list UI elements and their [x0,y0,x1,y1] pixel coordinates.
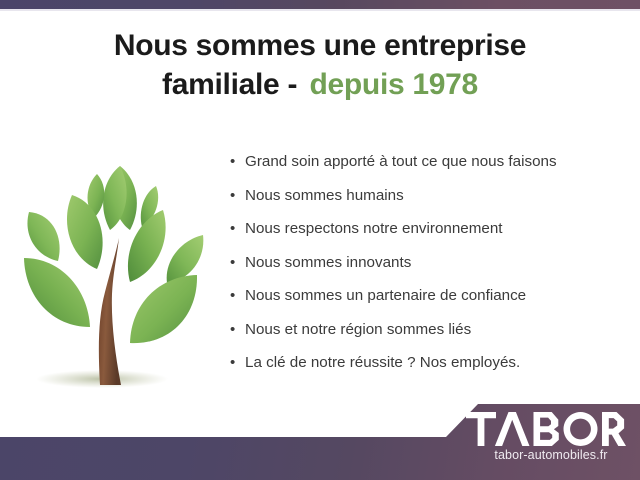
page-title-line-2: familiale - depuis 1978 [0,65,640,104]
list-item-label: Nous sommes un partenaire de confiance [245,285,526,307]
bullet-marker-icon: • [230,151,245,173]
top-accent-bar [0,0,640,9]
list-item: • Nous et notre région sommes liés [230,319,630,353]
list-item-label: La clé de notre réussite ? Nos employés. [245,352,520,374]
bullet-marker-icon: • [230,252,245,274]
page-title: Nous sommes une entreprise familiale - d… [0,26,640,104]
list-item: • Nous sommes humains [230,185,630,219]
tree-leaf [130,275,197,343]
values-bullet-list: • Grand soin apporté à tout ce que nous … [230,151,630,386]
tree-leaf [24,258,90,327]
page-title-line-2-plain: familiale - [162,68,297,101]
bullet-marker-icon: • [230,285,245,307]
list-item: • Grand soin apporté à tout ce que nous … [230,151,630,185]
tree-leaf [167,235,204,283]
bullet-marker-icon: • [230,218,245,240]
list-item: • Nous respectons notre environnement [230,218,630,252]
top-accent-hairline [0,9,640,11]
list-item-label: Nous sommes innovants [245,252,411,274]
page-title-line-1: Nous sommes une entreprise [0,26,640,65]
bullet-marker-icon: • [230,185,245,207]
brand-logo[interactable]: tabor-automobiles.fr [466,412,634,472]
tree-leaf-group [24,166,203,343]
page-title-accent: depuis 1978 [309,68,477,101]
list-item: • La clé de notre réussite ? Nos employé… [230,352,630,386]
tree-leaf [27,212,59,261]
tree-svg [12,142,217,392]
list-item: • Nous sommes un partenaire de confiance [230,285,630,319]
list-item-label: Nous respectons notre environnement [245,218,503,240]
list-item-label: Nous et notre région sommes liés [245,319,471,341]
green-tree-illustration [12,142,217,392]
brand-tagline: tabor-automobiles.fr [471,448,631,462]
tree-trunk [99,238,121,385]
bullet-marker-icon: • [230,319,245,341]
tabor-wordmark-icon [466,412,626,446]
list-item-label: Nous sommes humains [245,185,404,207]
list-item: • Nous sommes innovants [230,252,630,286]
bullet-marker-icon: • [230,352,245,374]
list-item-label: Grand soin apporté à tout ce que nous fa… [245,151,557,173]
